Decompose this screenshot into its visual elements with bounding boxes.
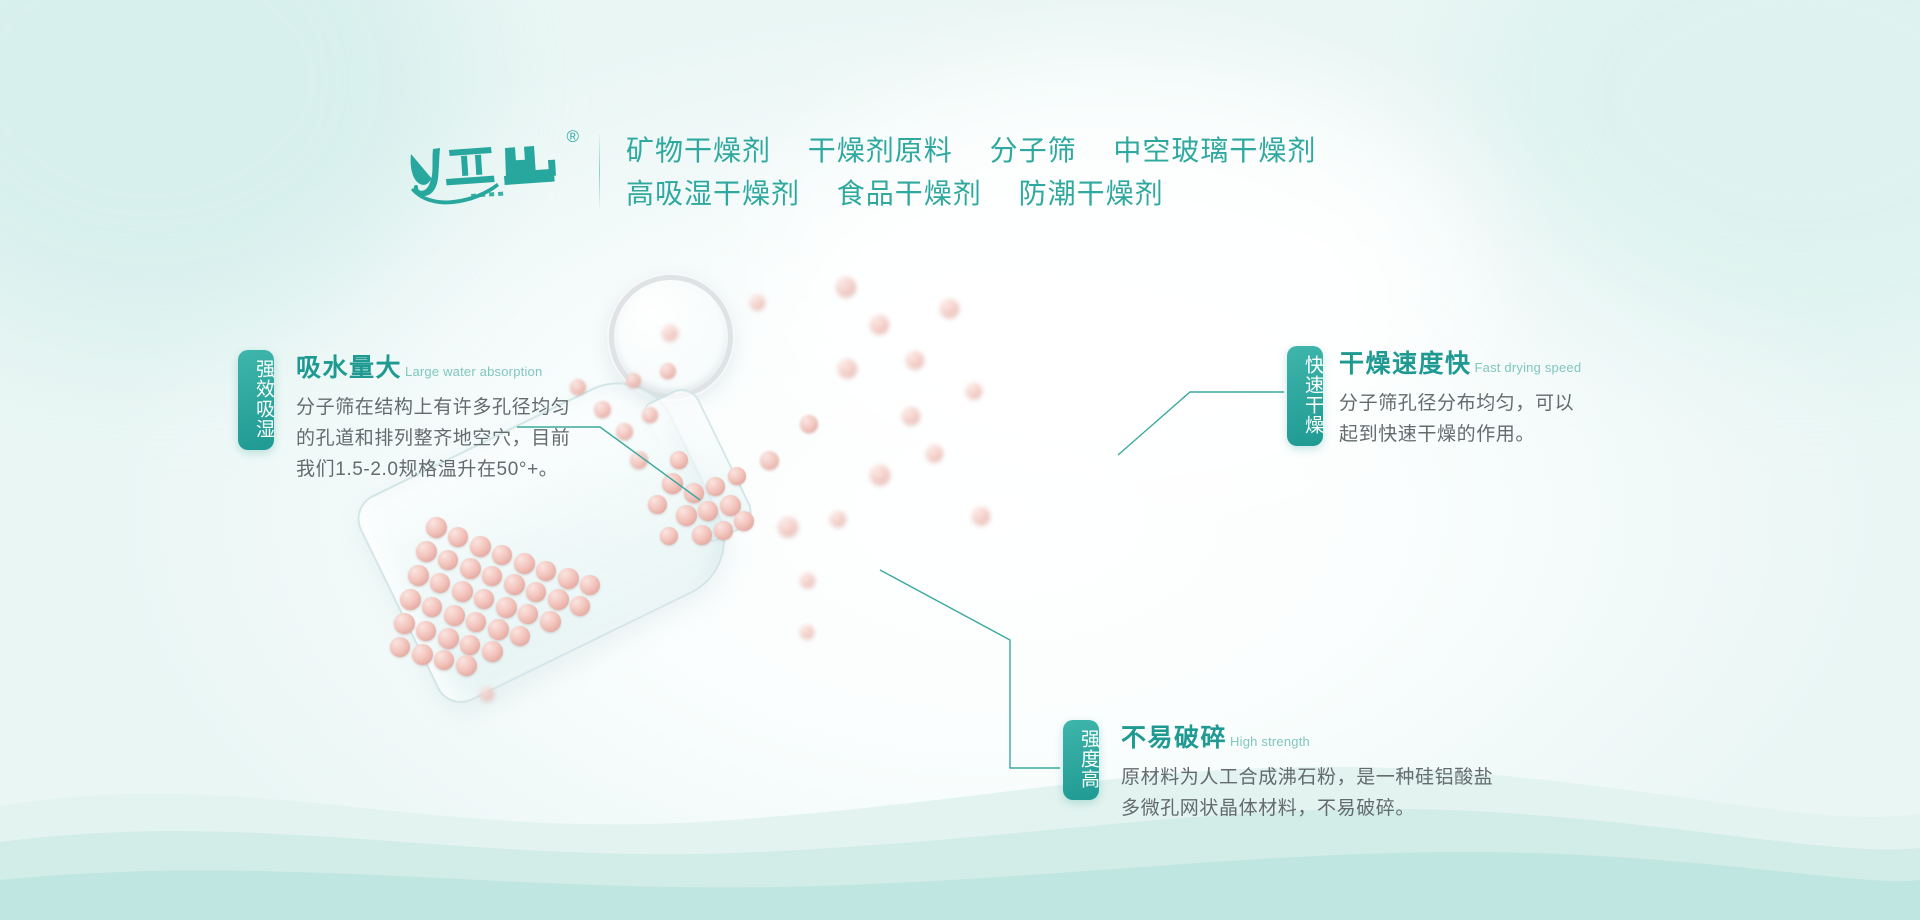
keyword-moisture-proof-desiccant[interactable]: 防潮干燥剂 bbox=[1019, 173, 1164, 216]
badge-absorption: 强效吸湿 bbox=[238, 350, 274, 450]
decorative-blob-right bbox=[1480, 0, 1920, 340]
keyword-desiccant-raw-material[interactable]: 干燥剂原料 bbox=[808, 130, 953, 173]
logo-icon bbox=[405, 128, 585, 214]
wave-mid bbox=[0, 809, 1920, 920]
callout-speed[interactable]: 快速干燥 干燥速度快 Fast drying speed 分子筛孔径分布均匀，可… bbox=[1287, 344, 1581, 451]
badge-strength: 强度高 bbox=[1063, 720, 1099, 800]
callout-strength[interactable]: 强度高 不易破碎 High strength 原材料为人工合成沸石粉，是一种硅铝… bbox=[1063, 718, 1493, 825]
header-keywords: 矿物干燥剂 干燥剂原料 分子筛 中空玻璃干燥剂 高吸湿干燥剂 食品干燥剂 防潮干… bbox=[626, 128, 1316, 215]
callout-strength-description: 原材料为人工合成沸石粉，是一种硅铝酸盐 多微孔网状晶体材料，不易破碎。 bbox=[1121, 763, 1493, 825]
keyword-insulating-glass-desiccant[interactable]: 中空玻璃干燥剂 bbox=[1113, 130, 1316, 173]
callout-speed-subtitle: Fast drying speed bbox=[1475, 360, 1582, 375]
callout-strength-title: 不易破碎 bbox=[1121, 718, 1227, 754]
infographic-banner: ® 矿物干燥剂 干燥剂原料 分子筛 中空玻璃干燥剂 高吸湿干燥剂 食品干燥剂 防… bbox=[0, 0, 1920, 920]
callout-strength-body: 不易破碎 High strength 原材料为人工合成沸石粉，是一种硅铝酸盐 多… bbox=[1099, 718, 1493, 825]
callout-speed-title: 干燥速度快 bbox=[1339, 344, 1472, 380]
connector-strength bbox=[880, 570, 1060, 768]
wave-back bbox=[0, 767, 1920, 920]
callout-absorption-subtitle: Large water absorption bbox=[405, 364, 542, 379]
keyword-food-desiccant[interactable]: 食品干燥剂 bbox=[837, 173, 982, 216]
badge-speed: 快速干燥 bbox=[1287, 346, 1323, 446]
header-divider bbox=[599, 134, 600, 209]
callout-speed-body: 干燥速度快 Fast drying speed 分子筛孔径分布均匀，可以 起到快… bbox=[1323, 344, 1581, 451]
registered-trademark-icon: ® bbox=[566, 128, 579, 145]
brand-logo[interactable]: ® bbox=[405, 128, 585, 214]
decorative-waves bbox=[0, 710, 1920, 920]
callout-absorption[interactable]: 强效吸湿 吸水量大 Large water absorption 分子筛在结构上… bbox=[238, 348, 570, 485]
callout-speed-description: 分子筛孔径分布均匀，可以 起到快速干燥的作用。 bbox=[1339, 389, 1581, 451]
header: ® 矿物干燥剂 干燥剂原料 分子筛 中空玻璃干燥剂 高吸湿干燥剂 食品干燥剂 防… bbox=[405, 128, 1316, 215]
callout-strength-subtitle: High strength bbox=[1230, 734, 1310, 749]
wave-front bbox=[0, 852, 1920, 920]
callout-absorption-title: 吸水量大 bbox=[296, 348, 402, 384]
keyword-molecular-sieve[interactable]: 分子筛 bbox=[990, 130, 1077, 173]
keyword-high-absorption-desiccant[interactable]: 高吸湿干燥剂 bbox=[626, 173, 800, 216]
keyword-line-2: 高吸湿干燥剂 食品干燥剂 防潮干燥剂 bbox=[626, 173, 1316, 216]
keyword-line-1: 矿物干燥剂 干燥剂原料 分子筛 中空玻璃干燥剂 bbox=[626, 130, 1316, 173]
decorative-blob-left bbox=[0, 0, 460, 340]
callout-absorption-body: 吸水量大 Large water absorption 分子筛在结构上有许多孔径… bbox=[274, 348, 570, 485]
callout-absorption-heading: 吸水量大 Large water absorption bbox=[296, 348, 570, 384]
callout-absorption-description: 分子筛在结构上有许多孔径均匀 的孔道和排列整齐地空穴，目前 我们1.5-2.0规… bbox=[296, 393, 570, 485]
callout-speed-heading: 干燥速度快 Fast drying speed bbox=[1339, 344, 1581, 380]
callout-strength-heading: 不易破碎 High strength bbox=[1121, 718, 1493, 754]
connector-speed bbox=[1118, 392, 1284, 455]
metal-ring bbox=[607, 273, 735, 401]
keyword-mineral-desiccant[interactable]: 矿物干燥剂 bbox=[626, 130, 771, 173]
